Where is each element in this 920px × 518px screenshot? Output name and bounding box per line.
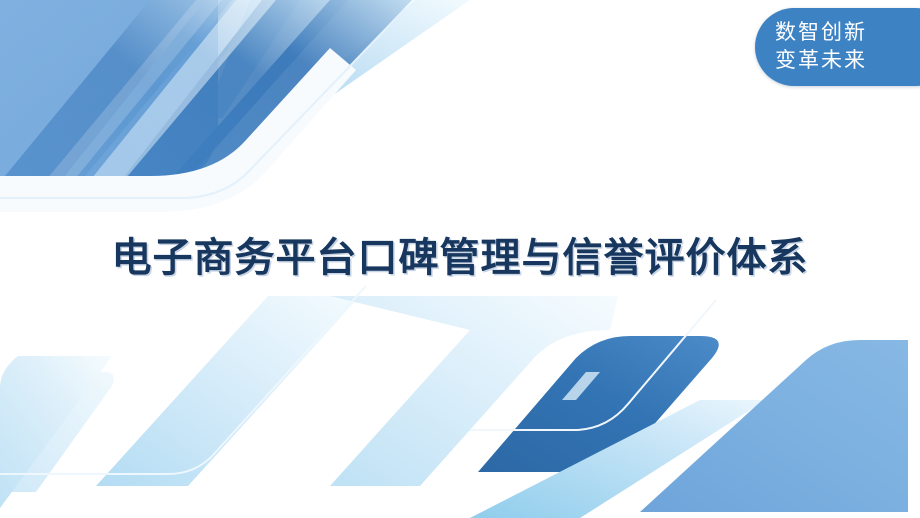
bottom-right-deep-band <box>478 336 719 472</box>
slogan-line-1: 数智创新 <box>775 19 867 47</box>
bottom-left-sliver <box>0 372 114 492</box>
page-title: 电子商务平台口碑管理与信誉评价体系 <box>0 232 920 284</box>
bottom-right-main-triangle <box>640 340 908 512</box>
top-right-outline-band <box>200 0 415 152</box>
slogan-badge: 数智创新 变革未来 <box>755 8 920 86</box>
bottom-center-pale-chevron <box>96 296 360 486</box>
slogan-line-2: 变革未来 <box>775 47 867 75</box>
bottom-right-edge-sliver <box>562 372 600 400</box>
diagonal-band-mid <box>60 0 268 182</box>
diagonal-band-deep-2 <box>120 0 348 184</box>
bottom-left-band-pale <box>0 356 112 508</box>
top-left-block <box>0 0 218 182</box>
top-right-pale-wedge <box>205 0 470 118</box>
diagonal-band-pale <box>92 0 276 178</box>
top-left-soft-underlay <box>0 48 356 212</box>
bottom-center-pale-chevron-2 <box>330 296 618 486</box>
diagonal-band-sheen <box>46 0 222 180</box>
bottom-left-hairline <box>0 286 366 474</box>
diagonal-band-deep <box>0 0 232 182</box>
bottom-right-light-wedge <box>470 400 766 518</box>
bottom-right-hairline <box>470 300 716 430</box>
title-slide: 数智创新 变革未来 电子商务平台口碑管理与信誉评价体系 <box>0 0 920 518</box>
top-sweep-hairline <box>0 10 404 198</box>
top-sweep-tail <box>170 0 412 180</box>
